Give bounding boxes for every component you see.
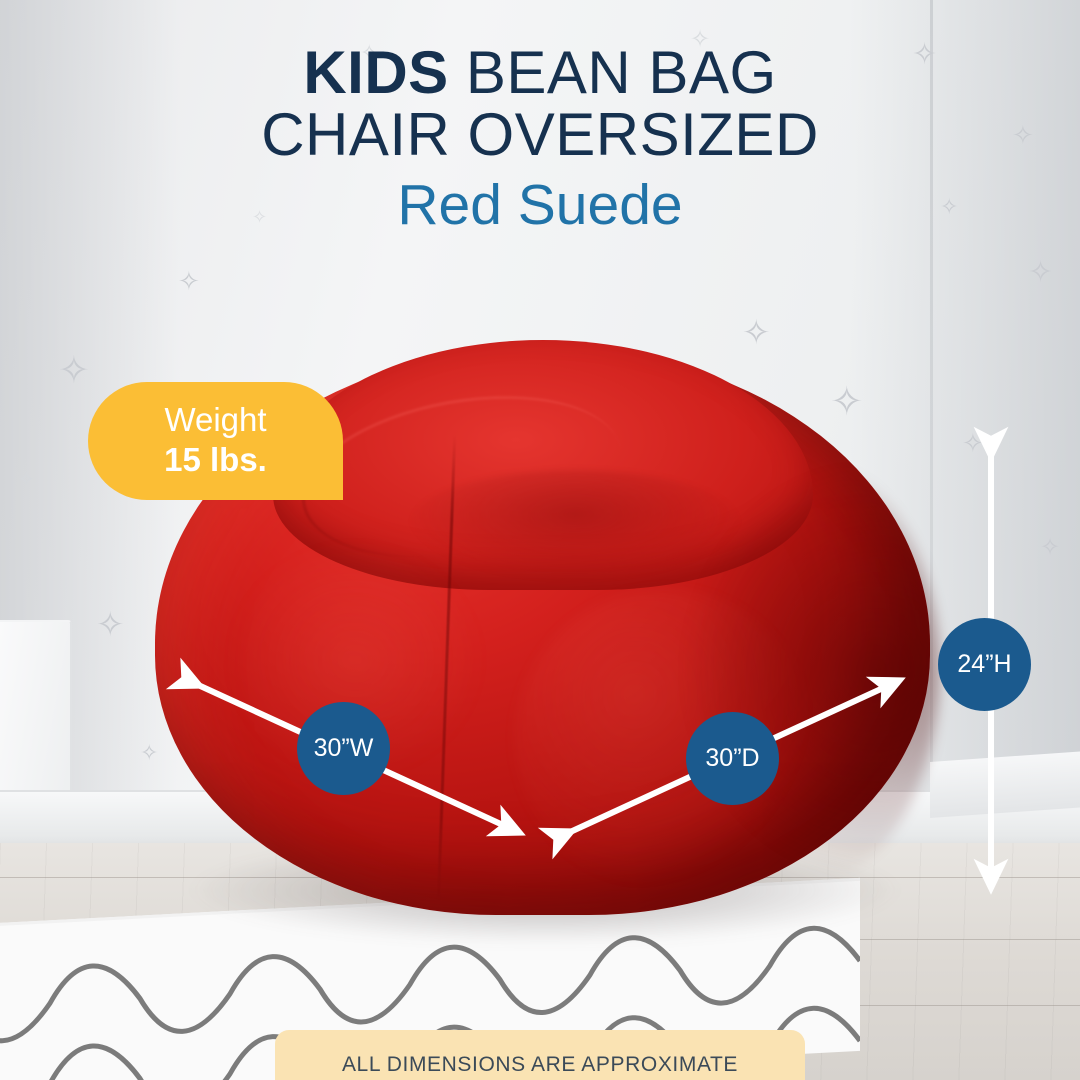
star-decal-icon: ✧ bbox=[18, 470, 35, 490]
page-title: KIDS BEAN BAG CHAIR OVERSIZED Red Suede bbox=[0, 42, 1080, 234]
dimension-badge-width: 30”W bbox=[297, 702, 390, 795]
dimension-width-label: 30”W bbox=[314, 734, 374, 763]
headline-line-2: CHAIR OVERSIZED bbox=[0, 104, 1080, 166]
star-decal-icon: ✧ bbox=[58, 352, 90, 390]
product-infographic: ✧ ✧ ✧ ✧ ✧ ✧ ✧ ✧ ✧ ✧ ✧ ✧ ✧ ✧ ✧ ✧ ✧ ✧ bbox=[0, 0, 1080, 1080]
wall-baseboard-right bbox=[930, 752, 1080, 818]
star-decal-icon: ✧ bbox=[96, 608, 125, 642]
star-decal-icon: ✧ bbox=[1040, 536, 1060, 560]
weight-label: Weight bbox=[164, 402, 266, 438]
headline-kids-word: KIDS bbox=[303, 39, 448, 106]
star-decal-icon: ✧ bbox=[962, 430, 984, 456]
dimension-badge-depth: 30”D bbox=[686, 712, 779, 805]
weight-value: 15 lbs. bbox=[164, 439, 267, 480]
headline-line-1: KIDS BEAN BAG bbox=[0, 42, 1080, 104]
weight-badge: Weight 15 lbs. bbox=[88, 382, 343, 500]
star-decal-icon: ✧ bbox=[1028, 258, 1053, 288]
headline-subtitle-color: Red Suede bbox=[0, 176, 1080, 235]
dimension-depth-label: 30”D bbox=[705, 744, 759, 773]
footer-disclaimer-banner: ALL DIMENSIONS ARE APPROXIMATE bbox=[275, 1030, 805, 1080]
headline-line-1-rest: BEAN BAG bbox=[449, 39, 777, 106]
star-decal-icon: ✧ bbox=[178, 268, 200, 294]
footer-disclaimer-text: ALL DIMENSIONS ARE APPROXIMATE bbox=[342, 1053, 738, 1077]
dimension-badge-height: 24”H bbox=[938, 618, 1031, 711]
dimension-height-label: 24”H bbox=[957, 650, 1011, 679]
bean-bag-right-shading bbox=[680, 460, 940, 880]
